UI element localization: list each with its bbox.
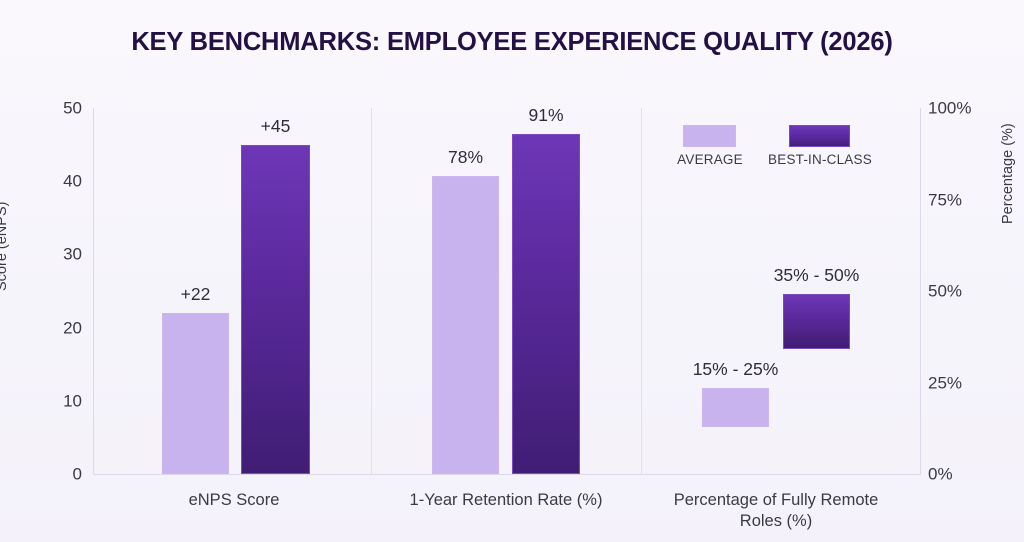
panel-divider <box>641 108 642 474</box>
left-axis-tick: 0 <box>73 466 82 483</box>
bar-1-year-retention-rate-average <box>432 176 499 474</box>
bar-enps-score-average <box>162 313 229 474</box>
bottom-axis-line <box>93 474 921 475</box>
panel-divider <box>371 108 372 474</box>
left-axis-title: Score (eNPS) <box>0 202 10 291</box>
left-axis-tick: 50 <box>63 100 82 117</box>
right-axis-line <box>920 108 921 474</box>
category-label: eNPS Score <box>124 490 344 511</box>
chart-container: KEY BENCHMARKS: EMPLOYEE EXPERIENCE QUAL… <box>0 0 1024 542</box>
bar-enps-score-best-in-class <box>241 145 310 474</box>
category-label: Percentage of Fully Remote Roles (%) <box>666 490 886 532</box>
right-axis-tick: 0% <box>928 466 953 483</box>
left-axis-line <box>93 108 94 474</box>
bar-percentage-of-fully-remote-roles-best-in-class <box>783 294 850 349</box>
left-axis-tick: 10 <box>63 392 82 409</box>
bar-value-label: 78% <box>396 149 536 167</box>
category-label: 1-Year Retention Rate (%) <box>396 490 616 511</box>
chart-legend: AVERAGEBEST-IN-CLASS <box>660 125 910 173</box>
legend-swatch-best-in-class <box>789 125 850 147</box>
bar-value-label: +22 <box>126 286 266 304</box>
bar-value-label: 91% <box>476 107 616 125</box>
bar-1-year-retention-rate-best-in-class <box>512 134 580 474</box>
left-axis-tick: 40 <box>63 173 82 190</box>
left-axis-tick: 30 <box>63 246 82 263</box>
legend-label: BEST-IN-CLASS <box>756 152 884 167</box>
right-axis-tick: 50% <box>928 283 962 300</box>
right-axis-ticks: 0%25%50%75%100% <box>928 108 984 474</box>
right-axis-title: Percentage (%) <box>1000 123 1016 224</box>
right-axis-tick: 25% <box>928 374 962 391</box>
bar-value-label: +45 <box>206 118 346 136</box>
bar-percentage-of-fully-remote-roles-average <box>702 388 769 427</box>
right-axis-tick: 100% <box>928 100 971 117</box>
bar-value-label: 35% - 50% <box>747 267 887 285</box>
legend-swatch-average <box>683 125 736 147</box>
right-axis-tick: 75% <box>928 191 962 208</box>
left-axis-tick: 20 <box>63 319 82 336</box>
bar-value-label: 15% - 25% <box>666 361 806 379</box>
legend-label: AVERAGE <box>660 152 760 167</box>
chart-title: KEY BENCHMARKS: EMPLOYEE EXPERIENCE QUAL… <box>0 28 1024 57</box>
left-axis-ticks: 01020304050 <box>40 108 82 474</box>
